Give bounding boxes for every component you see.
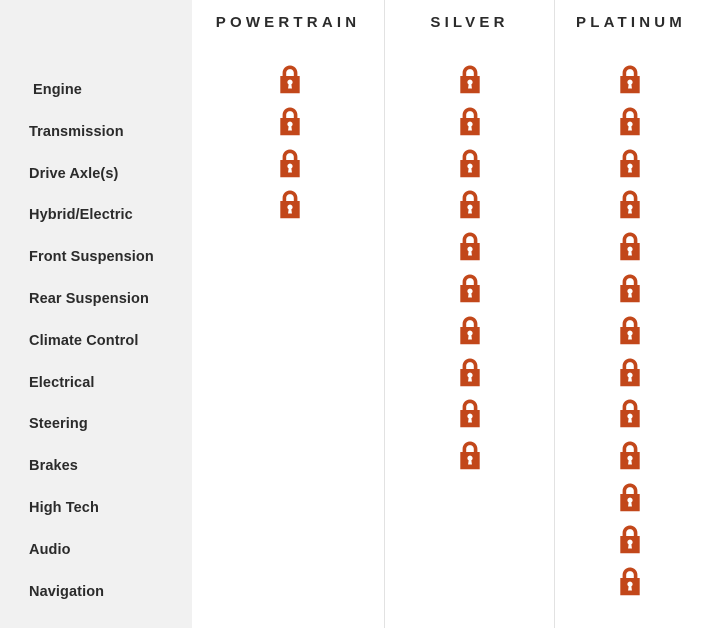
column-header-powertrain: POWERTRAIN [192,14,384,31]
row-label-rear-suspension: Rear Suspension [29,291,149,307]
row-label-drive-axle-s: Drive Axle(s) [29,166,118,182]
lock-icon [617,65,643,95]
row-label-front-suspension: Front Suspension [29,249,154,265]
lock-icon [617,316,643,346]
row-label-audio: Audio [29,542,71,558]
row-label-high-tech: High Tech [29,500,99,516]
lock-icon [457,358,483,388]
lock-icon [457,190,483,220]
lock-icon [617,399,643,429]
lock-icon [617,190,643,220]
column-divider-powertrain-silver [384,0,385,628]
lock-icon [617,358,643,388]
row-label-panel [0,0,192,628]
lock-icon [617,274,643,304]
lock-icon [457,232,483,262]
lock-icon [277,107,303,137]
row-label-steering: Steering [29,416,88,432]
row-label-electrical: Electrical [29,375,95,391]
lock-icon [457,107,483,137]
lock-icon [617,149,643,179]
row-label-hybrid-electric: Hybrid/Electric [29,207,133,223]
lock-icon [617,232,643,262]
coverage-comparison-table: POWERTRAIN SILVER PLATINUM EngineTransmi… [0,0,707,633]
row-label-navigation: Navigation [29,584,104,600]
column-divider-silver-platinum [554,0,555,628]
lock-icon [617,567,643,597]
lock-icon [457,274,483,304]
column-header-silver: SILVER [385,14,554,31]
row-label-transmission: Transmission [29,124,124,140]
row-label-climate-control: Climate Control [29,333,138,349]
lock-icon [277,65,303,95]
lock-icon [277,149,303,179]
column-header-platinum: PLATINUM [555,14,707,31]
lock-icon [457,441,483,471]
lock-icon [457,149,483,179]
row-label-brakes: Brakes [29,458,78,474]
lock-icon [277,190,303,220]
lock-icon [457,65,483,95]
lock-icon [617,441,643,471]
row-label-engine: Engine [33,82,82,98]
lock-icon [617,525,643,555]
table-header-row: POWERTRAIN SILVER PLATINUM [0,0,707,52]
lock-icon [457,399,483,429]
lock-icon [457,316,483,346]
lock-icon [617,483,643,513]
lock-icon [617,107,643,137]
